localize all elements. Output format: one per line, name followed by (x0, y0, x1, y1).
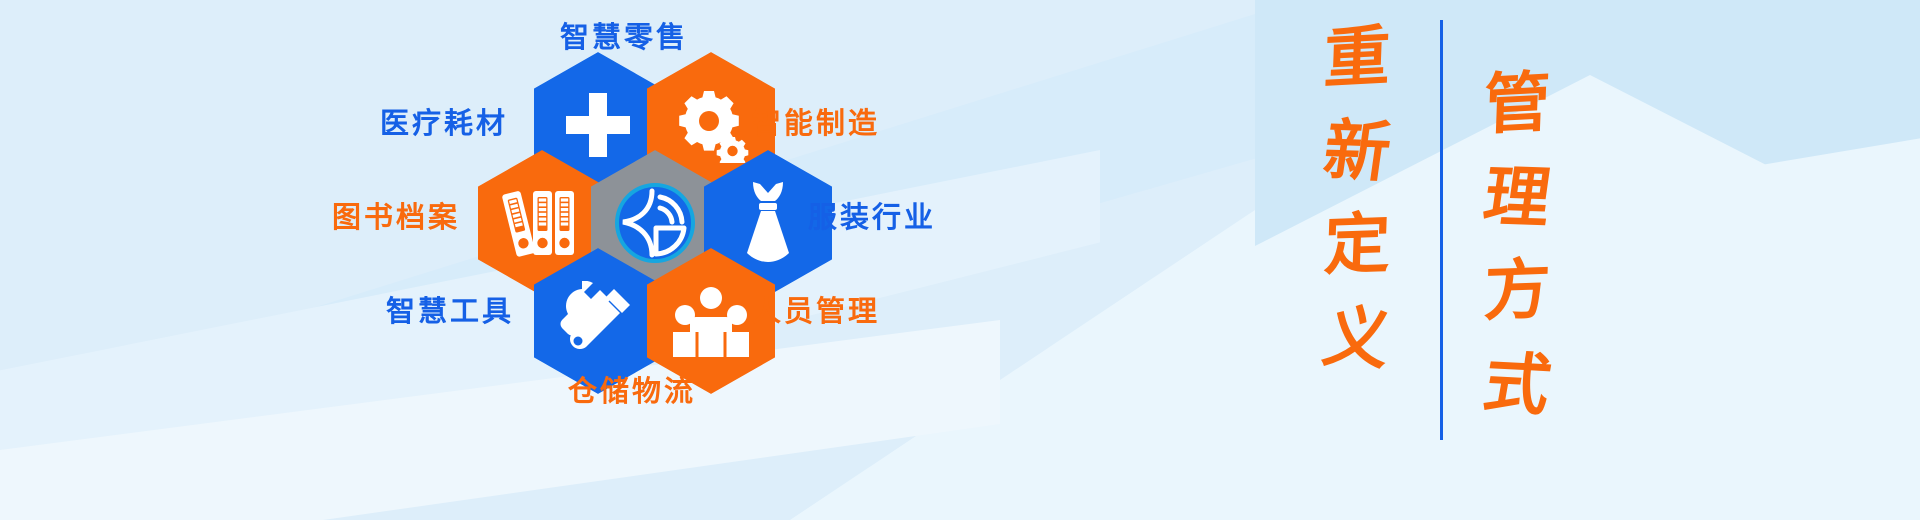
calligraphy-char: 定 (1322, 198, 1391, 294)
calligraphy-char: 方 (1482, 244, 1551, 340)
calligraphy-char: 式 (1476, 337, 1558, 434)
calligraphy-char: 重 (1322, 10, 1391, 107)
calligraphy-block: 重 新 定 义 管 理 方 式 (1290, 0, 1670, 520)
calligraphy-right-column: 管 理 方 式 (1484, 58, 1550, 433)
binders-icon (502, 183, 582, 263)
calligraphy-char: 理 (1478, 151, 1557, 247)
calligraphy-divider (1440, 20, 1443, 440)
gears-icon (673, 87, 749, 163)
wrench-screwdriver-icon (558, 281, 638, 361)
banner-canvas: 智慧零售 医疗耗材 智能制造 图书档案 服装行业 智慧工具 人员管理 仓储物流 … (0, 0, 1920, 520)
label-books: 图书档案 (332, 194, 460, 236)
calligraphy-char: 义 (1316, 291, 1398, 388)
label-tools: 智慧工具 (386, 288, 514, 330)
calligraphy-left-column: 重 新 定 义 (1324, 12, 1390, 387)
label-storage: 仓储物流 (568, 368, 696, 410)
label-retail: 智慧零售 (560, 14, 688, 56)
rfid-logo-icon (614, 182, 696, 264)
label-manufacturing: 智能制造 (752, 100, 880, 142)
calligraphy-char: 新 (1318, 105, 1397, 201)
label-people: 人员管理 (752, 288, 880, 330)
label-medical: 医疗耗材 (380, 100, 508, 142)
calligraphy-char: 管 (1482, 56, 1551, 153)
medical-cross-icon (562, 89, 634, 161)
people-group-icon (670, 285, 752, 357)
dress-icon (731, 179, 805, 267)
label-apparel: 服装行业 (808, 194, 936, 236)
